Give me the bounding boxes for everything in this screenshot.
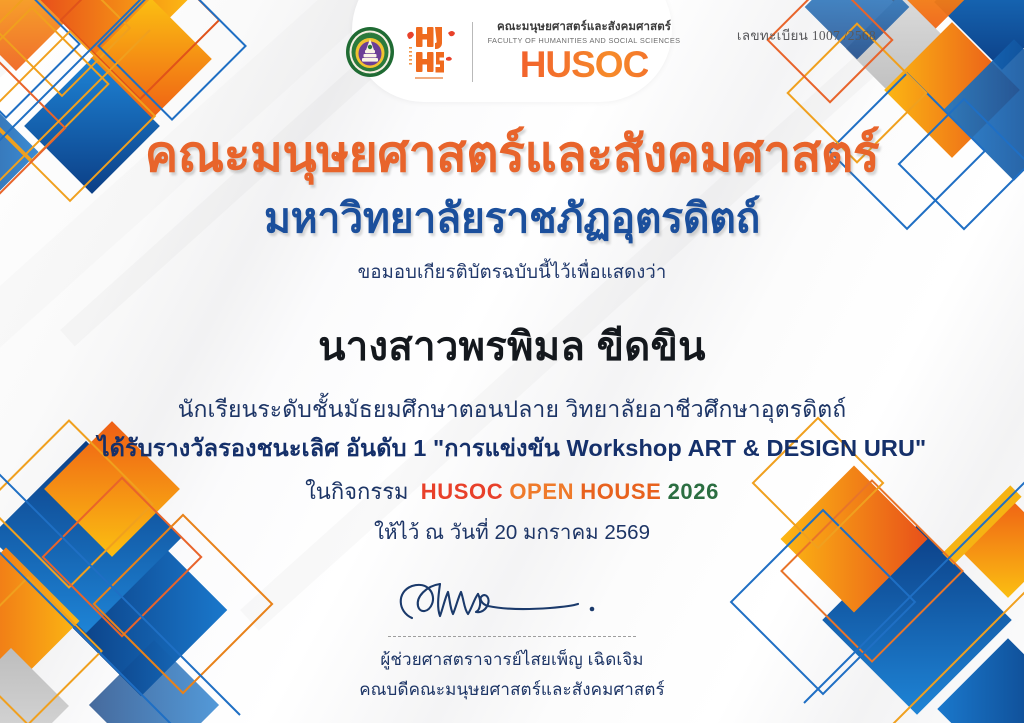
logo-divider xyxy=(472,22,473,82)
activity-year: 2026 xyxy=(668,479,719,504)
recipient-name: นางสาวพรพิมล ขีดขิน xyxy=(0,314,1024,378)
issue-date: ให้ไว้ ณ วันที่ 20 มกราคม 2569 xyxy=(0,516,1024,549)
signature-rule xyxy=(388,636,636,637)
handwritten-signature xyxy=(382,572,642,632)
husoc-monogram-icon xyxy=(403,21,457,83)
title-university: มหาวิทยาลัยราชภัฏอุตรดิตถ์ xyxy=(0,196,1024,242)
award-intro-text: ขอมอบเกียรติบัตรฉบับนี้ไว้เพื่อแสดงว่า xyxy=(0,258,1024,287)
faculty-wordmark: คณะมนุษยศาสตร์และสังคมศาสตร์ FACULTY OF … xyxy=(488,21,681,82)
certificate-canvas: . . . . . . . . . . . . . . . . . . . . xyxy=(0,0,1024,723)
wordmark-thai: คณะมนุษยศาสตร์และสังคมศาสตร์ xyxy=(497,21,671,34)
activity-house: HOUSE xyxy=(580,479,661,504)
registration-number: เลขทะเบียน 1007 /2568 xyxy=(737,24,876,46)
activity-line: ในกิจกรรม HUSOC OPEN HOUSE 2026 xyxy=(0,474,1024,509)
wordmark-husoc: HUSOC xyxy=(520,46,649,83)
certificate-content: คณะมนุษยศาสตร์และสังคมศาสตร์ มหาวิทยาลัย… xyxy=(0,0,1024,723)
header-logo-pill: . . . . . . . . . . . . . . . . . . . . xyxy=(352,0,672,102)
signature-block: ผู้ช่วยศาสตราจารย์ไสยเพ็ญ เฉิดเจิม คณบดี… xyxy=(0,572,1024,703)
award-detail: ได้รับรางวัลรองชนะเลิศ อันดับ 1 "การแข่ง… xyxy=(0,430,1024,467)
activity-label: ในกิจกรรม xyxy=(305,479,408,504)
university-seal-icon: . . . . . . . . . . . . . . . . . . . . xyxy=(344,26,396,78)
activity-open: OPEN xyxy=(509,479,574,504)
activity-husoc: HUSOC xyxy=(421,479,503,504)
recipient-affiliation: นักเรียนระดับชั้นมัธยมศึกษาตอนปลาย วิทยา… xyxy=(0,392,1024,428)
svg-text:. . . . . . . . . .: . . . . . . . . . . xyxy=(363,72,377,75)
signer-name: ผู้ช่วยศาสตราจารย์ไสยเพ็ญ เฉิดเจิม xyxy=(0,646,1024,673)
signer-role: คณบดีคณะมนุษยศาสตร์และสังคมศาสตร์ xyxy=(0,676,1024,703)
svg-text:. . . . . . . . . .: . . . . . . . . . . xyxy=(363,32,377,35)
title-faculty: คณะมนุษยศาสตร์และสังคมศาสตร์ xyxy=(0,126,1024,182)
